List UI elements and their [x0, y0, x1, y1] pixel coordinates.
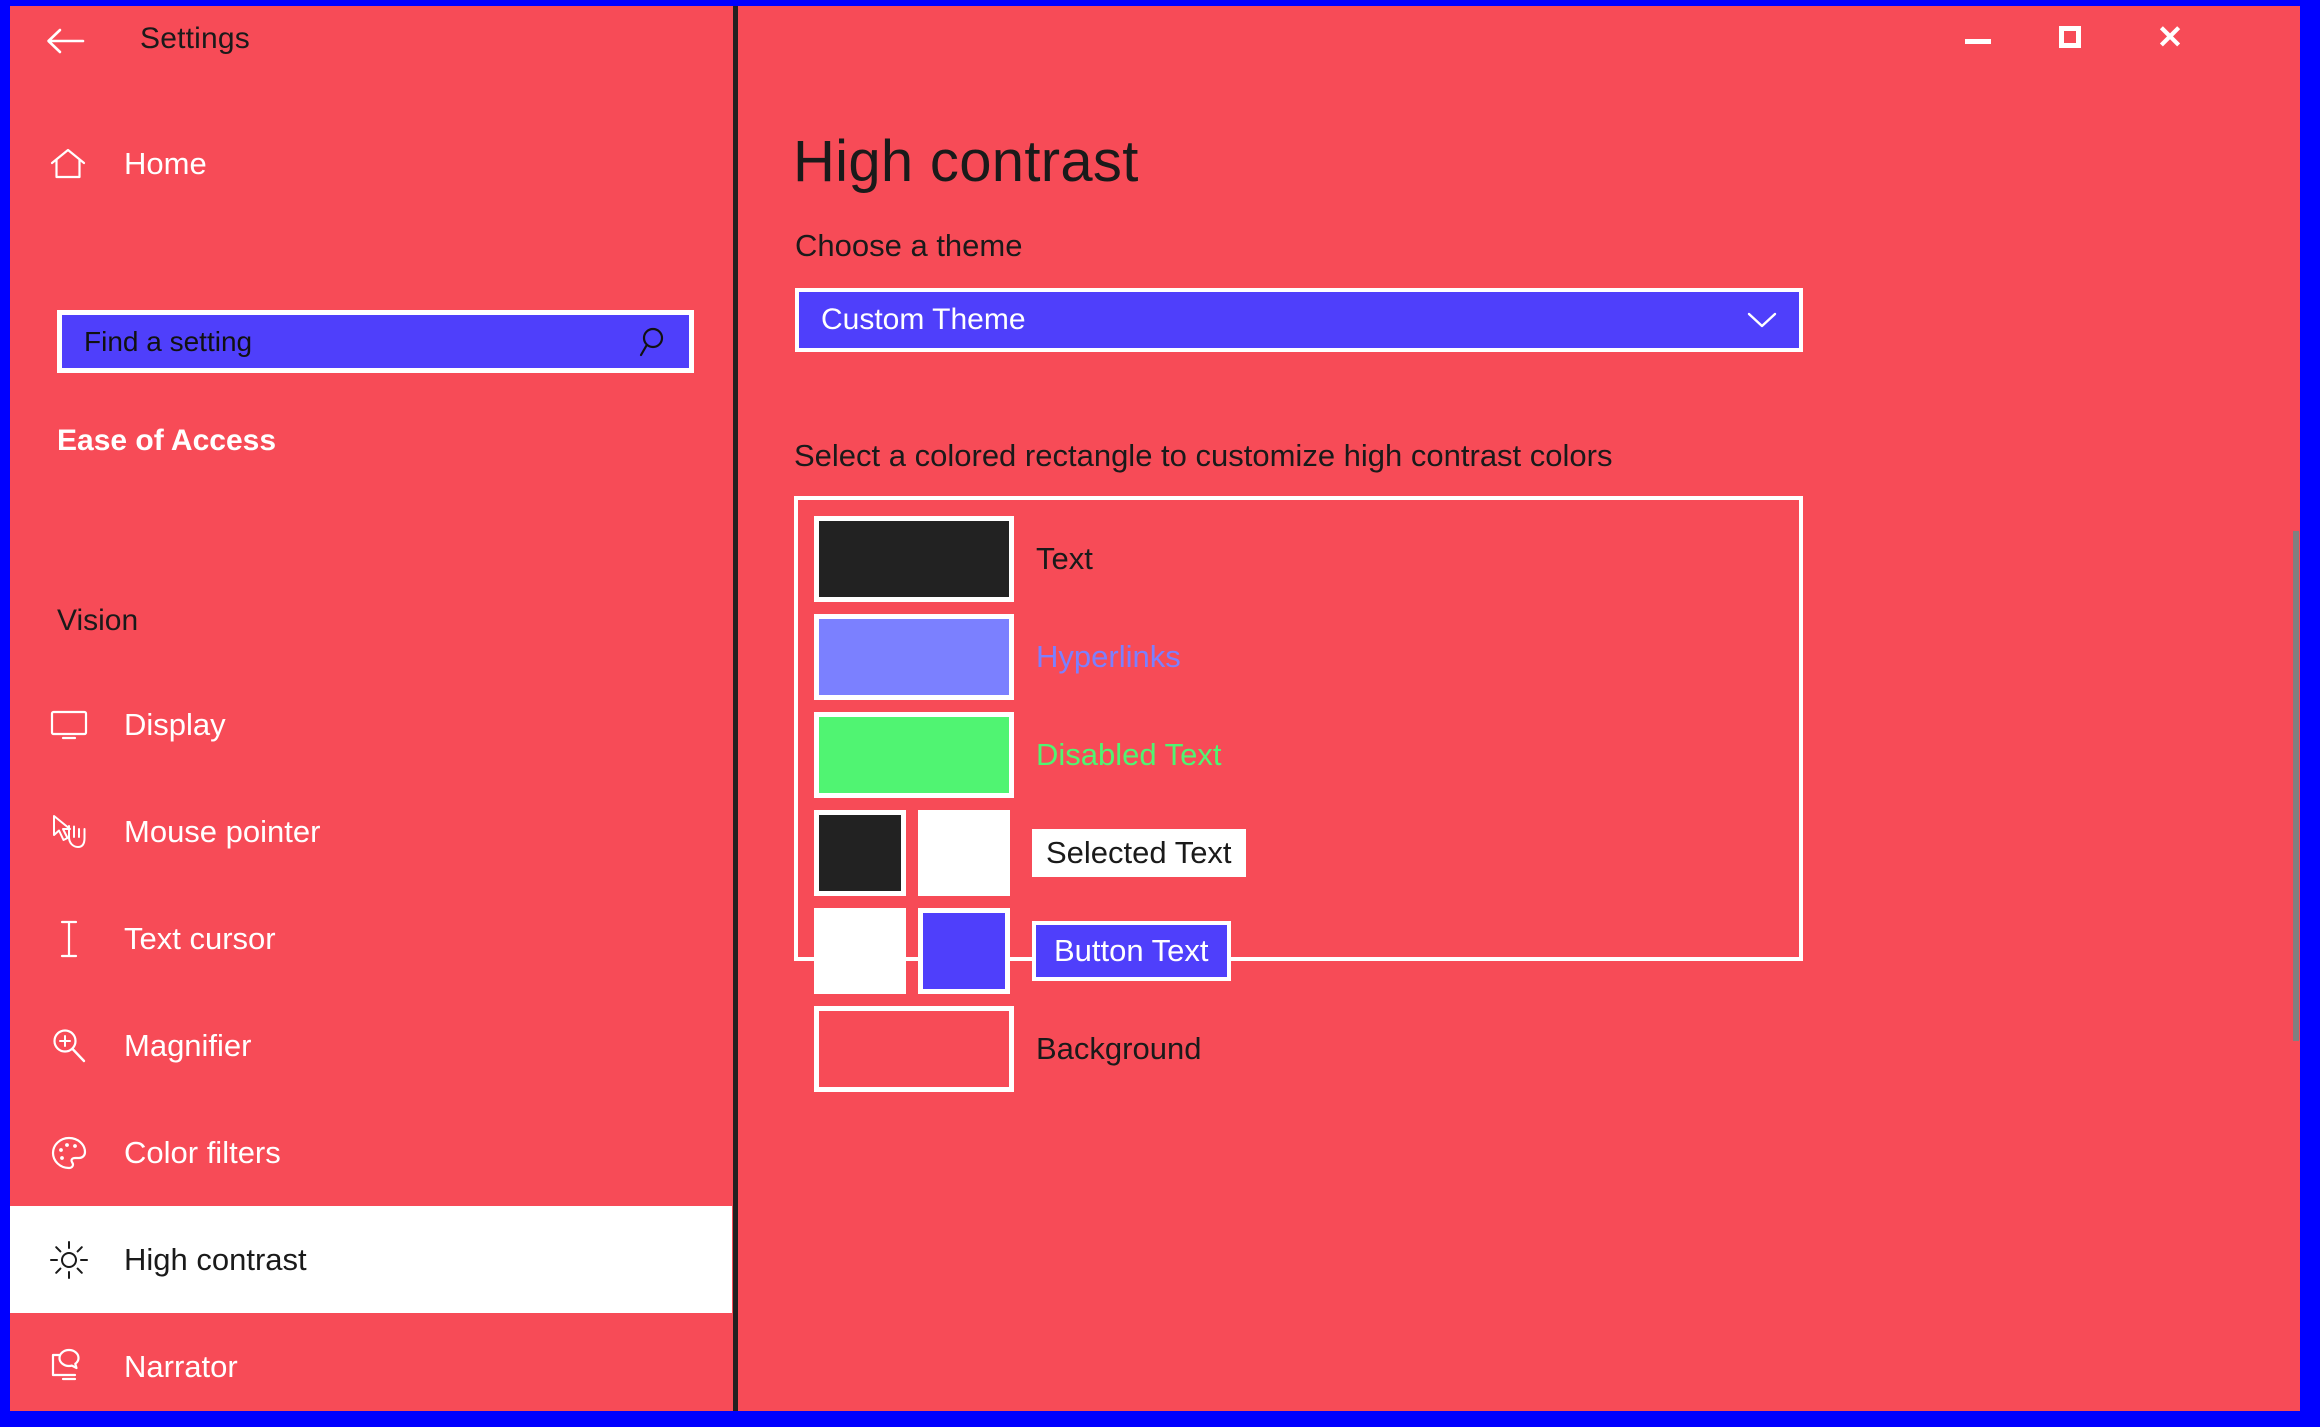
swatch-label-button-text: Button Text — [1032, 921, 1231, 981]
theme-label: Choose a theme — [795, 228, 1022, 264]
color-chip-background[interactable] — [814, 1006, 1014, 1092]
sidebar-item-home-label: Home — [124, 146, 207, 182]
app-title: Settings — [140, 22, 250, 56]
sidebar-section-header: Ease of Access — [57, 424, 276, 458]
sidebar-item-magnifier[interactable]: Magnifier — [10, 992, 732, 1099]
swatch-label-hyperlinks: Hyperlinks — [1036, 639, 1181, 675]
sidebar-item-text-cursor[interactable]: Text cursor — [10, 885, 732, 992]
sidebar-nav-list: Display Mouse pointer Text cursor — [10, 671, 732, 1411]
sidebar-item-magnifier-label: Magnifier — [124, 1028, 252, 1064]
sidebar-item-home[interactable]: Home — [10, 126, 732, 202]
monitor-icon — [40, 708, 98, 742]
theme-dropdown-value: Custom Theme — [821, 303, 1026, 337]
page-title: High contrast — [793, 128, 1139, 195]
color-palette-icon — [40, 1134, 98, 1172]
sidebar-item-narrator[interactable]: Narrator — [10, 1313, 732, 1411]
back-arrow-icon[interactable] — [42, 18, 88, 64]
search-field[interactable]: Find a setting — [62, 315, 689, 368]
color-chip-text[interactable] — [814, 516, 1014, 602]
content-scrollbar[interactable] — [2292, 76, 2300, 1411]
sidebar-item-color-filters-label: Color filters — [124, 1135, 281, 1171]
sidebar-item-mouse-pointer-label: Mouse pointer — [124, 814, 320, 850]
main-content: High contrast Choose a theme Custom Them… — [738, 76, 2300, 1411]
close-button[interactable]: ✕ — [2124, 6, 2216, 68]
home-icon — [38, 147, 98, 181]
minimize-button[interactable] — [1932, 6, 2024, 68]
color-chip-button-text-fg[interactable] — [814, 908, 906, 994]
mouse-pointer-icon — [40, 813, 98, 851]
sidebar-item-text-cursor-label: Text cursor — [124, 921, 276, 957]
scrollbar-thumb[interactable] — [2293, 531, 2299, 1041]
sidebar-item-display-label: Display — [124, 707, 226, 743]
text-cursor-icon — [40, 919, 98, 959]
sidebar: Home Find a setting Ease of Access Visio… — [10, 76, 732, 1411]
search-icon[interactable] — [639, 325, 673, 359]
swatch-label-text: Text — [1036, 541, 1093, 577]
sun-icon — [40, 1240, 98, 1280]
search-input[interactable]: Find a setting — [57, 310, 694, 373]
swatch-row-selected-text[interactable]: Selected Text — [814, 810, 1246, 896]
theme-dropdown[interactable]: Custom Theme — [795, 288, 1803, 352]
minimize-icon — [1965, 39, 1991, 44]
sidebar-group-vision: Vision — [57, 604, 138, 638]
color-chip-hyperlinks[interactable] — [814, 614, 1014, 700]
swatch-label-disabled-text: Disabled Text — [1036, 737, 1222, 773]
maximize-icon — [2059, 26, 2081, 48]
search-placeholder: Find a setting — [84, 326, 252, 358]
sidebar-item-high-contrast-label: High contrast — [124, 1242, 307, 1278]
settings-window: Settings ✕ Home Find a setting — [10, 6, 2300, 1411]
swatch-row-text[interactable]: Text — [814, 516, 1093, 602]
chevron-down-icon — [1747, 311, 1777, 329]
swatch-row-hyperlinks[interactable]: Hyperlinks — [814, 614, 1181, 700]
magnifier-icon — [40, 1027, 98, 1065]
sidebar-item-high-contrast[interactable]: High contrast — [10, 1206, 732, 1313]
swatch-instruction: Select a colored rectangle to customize … — [794, 438, 1612, 474]
swatch-row-disabled-text[interactable]: Disabled Text — [814, 712, 1222, 798]
swatch-row-background[interactable]: Background — [814, 1006, 1201, 1092]
title-bar: Settings ✕ — [10, 6, 2300, 76]
sidebar-item-color-filters[interactable]: Color filters — [10, 1099, 732, 1206]
swatch-panel: Text Hyperlinks Disabled Text Selected T… — [794, 496, 1803, 961]
color-chip-button-text-bg[interactable] — [918, 908, 1010, 994]
swatch-label-background: Background — [1036, 1031, 1201, 1067]
sidebar-item-narrator-label: Narrator — [124, 1349, 238, 1385]
narrator-icon — [40, 1348, 98, 1386]
swatch-label-selected-text: Selected Text — [1032, 829, 1246, 877]
sidebar-item-mouse-pointer[interactable]: Mouse pointer — [10, 778, 732, 885]
sidebar-item-display[interactable]: Display — [10, 671, 732, 778]
color-chip-disabled-text[interactable] — [814, 712, 1014, 798]
color-chip-selected-text-fg[interactable] — [814, 810, 906, 896]
swatch-row-button-text[interactable]: Button Text — [814, 908, 1231, 994]
close-icon: ✕ — [2157, 21, 2184, 53]
color-chip-selected-text-bg[interactable] — [918, 810, 1010, 896]
maximize-button[interactable] — [2024, 6, 2116, 68]
